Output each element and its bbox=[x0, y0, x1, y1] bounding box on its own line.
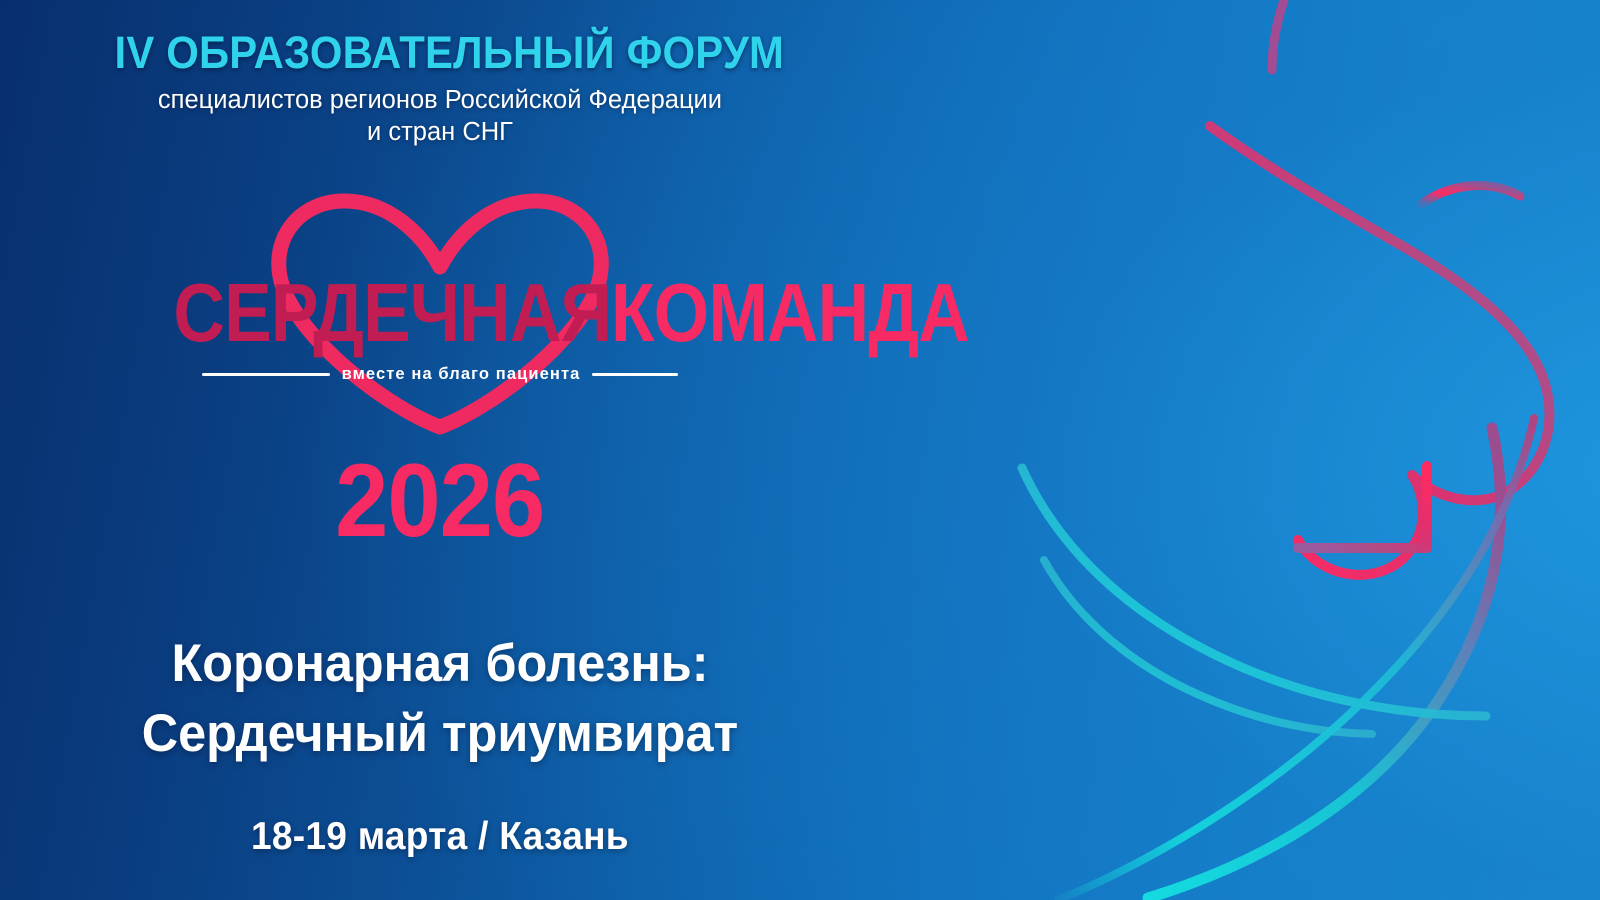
logo-word-serdechnaya: СЕРДЕЧНАЯ bbox=[173, 266, 611, 359]
logo-tagline-row: вместе на благо пациента bbox=[130, 365, 750, 384]
logo-wordmark: СЕРДЕЧНАЯКОМАНДА bbox=[173, 271, 706, 354]
small-heart-corner bbox=[1298, 466, 1427, 548]
forum-subtitle-line-2: и стран СНГ bbox=[90, 116, 790, 149]
event-year: 2026 bbox=[335, 449, 544, 553]
forum-subtitle-line-1: специалистов регионов Российской Федерац… bbox=[90, 84, 790, 117]
heart-cleft-stub bbox=[1272, 0, 1284, 70]
event-date-location: 18-19 марта / Казань bbox=[251, 817, 629, 856]
forum-header: IV ОБРАЗОВАТЕЛЬНЫЙ ФОРУМ специалистов ре… bbox=[90, 30, 790, 149]
pink-spark-arc bbox=[1422, 186, 1520, 204]
event-headline-line-1: Коронарная болезнь: bbox=[171, 634, 708, 693]
event-headline: Коронарная болезнь: Сердечный триумвират bbox=[79, 629, 801, 769]
content-column: IV ОБРАЗОВАТЕЛЬНЫЙ ФОРУМ специалистов ре… bbox=[0, 0, 880, 900]
logo-word-komanda: КОМАНДА bbox=[611, 266, 969, 359]
bottom-sweep-arc bbox=[1058, 418, 1534, 900]
forum-title: IV ОБРАЗОВАТЕЛЬНЫЙ ФОРУМ bbox=[115, 30, 766, 77]
large-heart-tail bbox=[1148, 428, 1501, 898]
cyan-swoosh-arc-secondary bbox=[1044, 560, 1372, 734]
forum-subtitle: специалистов регионов Российской Федерац… bbox=[90, 84, 790, 149]
cyan-swoosh-arc bbox=[1022, 468, 1486, 716]
logo-tagline: вместе на благо пациента bbox=[342, 365, 581, 384]
tagline-rule-left bbox=[202, 373, 330, 376]
brand-logo: СЕРДЕЧНАЯКОМАНДА вместе на благо пациент… bbox=[130, 187, 750, 437]
event-headline-line-2: Сердечный триумвират bbox=[79, 699, 801, 769]
small-heart-outline bbox=[1210, 126, 1549, 575]
tagline-rule-right bbox=[592, 373, 678, 376]
banner-canvas: IV ОБРАЗОВАТЕЛЬНЫЙ ФОРУМ специалистов ре… bbox=[0, 0, 1600, 900]
